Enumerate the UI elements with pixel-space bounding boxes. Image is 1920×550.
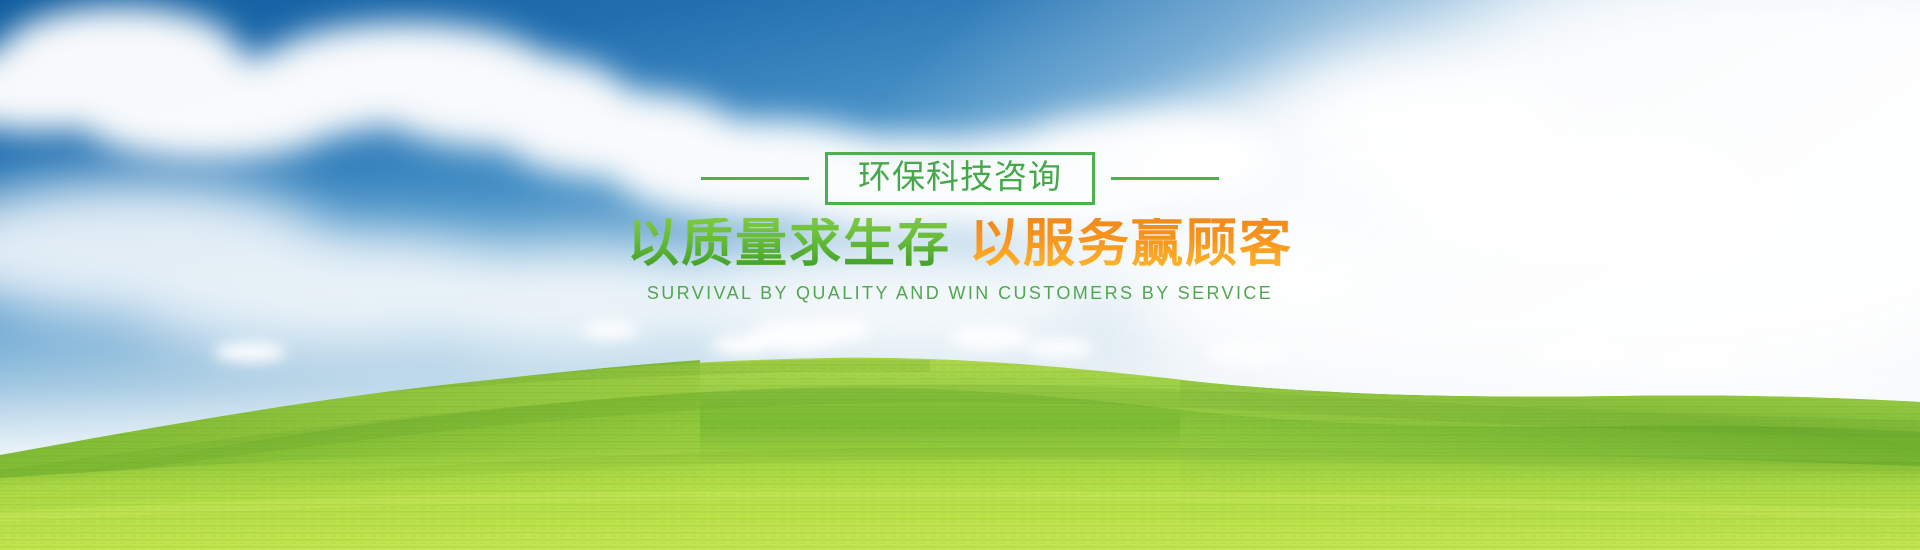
headline-part-green: 以质量求生存: [627, 218, 951, 270]
eyebrow-row: 环保科技咨询: [0, 152, 1920, 205]
right-decorative-rule: [1111, 177, 1219, 180]
headline-part-orange: 以服务赢顾客: [969, 218, 1293, 270]
subtitle: SURVIVAL BY QUALITY AND WIN CUSTOMERS BY…: [0, 283, 1920, 304]
eyebrow-badge: 环保科技咨询: [825, 152, 1095, 205]
hero-banner: 环保科技咨询 以质量求生存以服务赢顾客 SURVIVAL BY QUALITY …: [0, 0, 1920, 550]
headline: 以质量求生存以服务赢顾客: [0, 218, 1920, 270]
eyebrow-label: 环保科技咨询: [858, 160, 1062, 193]
left-decorative-rule: [701, 177, 809, 180]
scenery-illustration: [0, 0, 1920, 550]
